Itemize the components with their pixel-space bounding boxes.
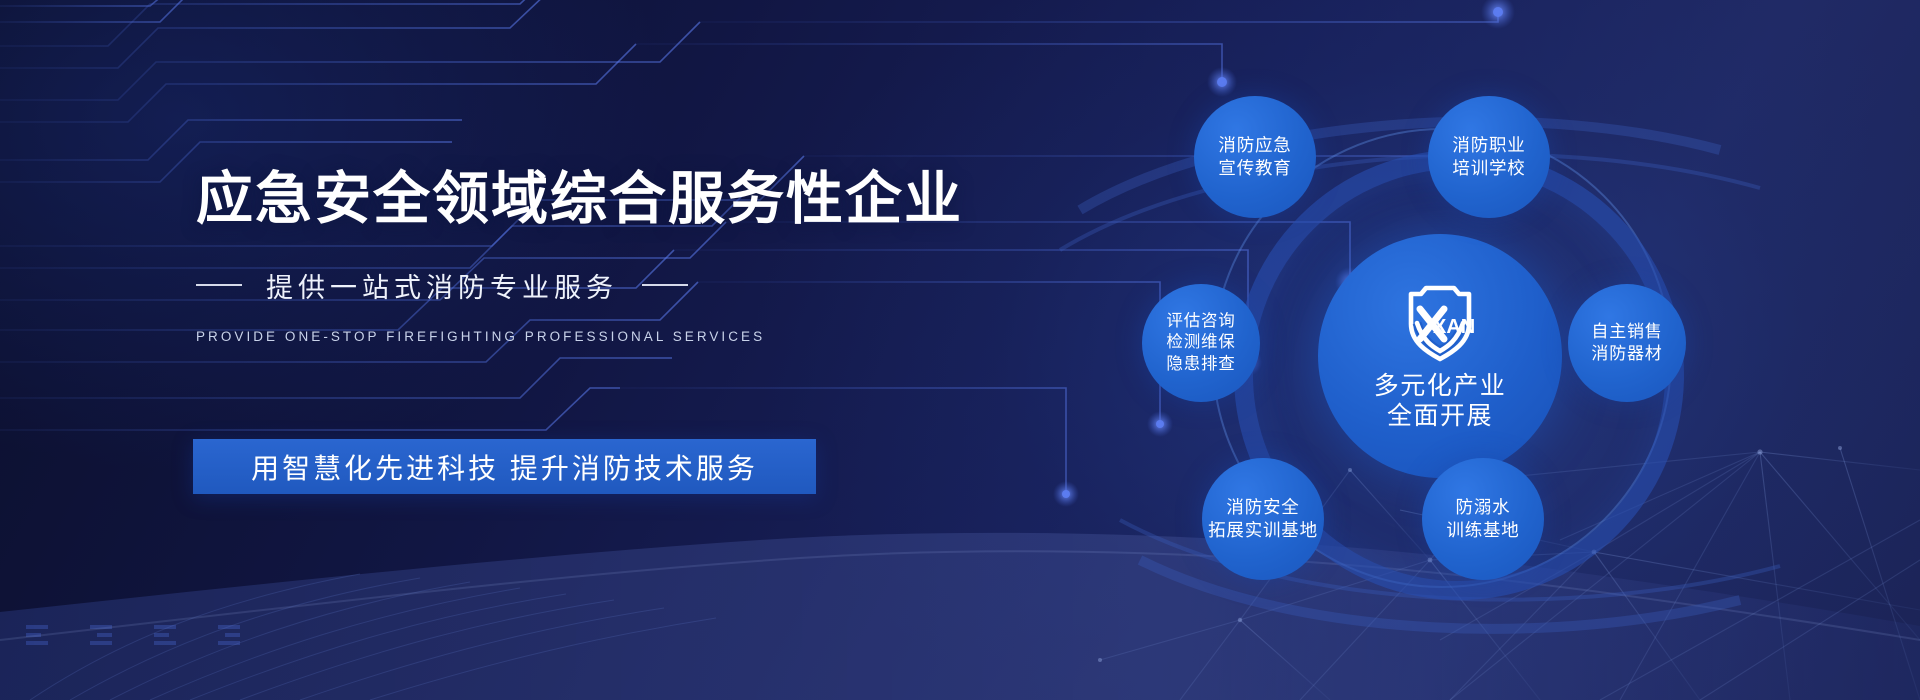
logo-wordmark: XAN bbox=[1433, 316, 1475, 338]
page-subtitle: 提供一站式消防专业服务 bbox=[266, 266, 618, 305]
bubble-label-line2: 消防器材 bbox=[1591, 343, 1662, 365]
dash-right-decoration bbox=[642, 284, 688, 286]
center-label-line2: 全面开展 bbox=[1374, 401, 1507, 432]
services-orbit-diagram: XAN 多元化产业 全面开展 消防应急 宣传教育 消防职业 培训学校 评估咨询 … bbox=[1150, 92, 1730, 612]
bubble-label-line2: 培训学校 bbox=[1452, 157, 1525, 180]
hero-copy-block: 应急安全领域综合服务性企业 提供一站式消防专业服务 PROVIDE ONE-ST… bbox=[196, 168, 956, 344]
bubble-label-line1: 防溺水 bbox=[1456, 496, 1511, 519]
cta-label: 用智慧化先进科技 提升消防技术服务 bbox=[251, 447, 758, 487]
hero-banner: 应急安全领域综合服务性企业 提供一站式消防专业服务 PROVIDE ONE-ST… bbox=[0, 0, 1920, 700]
bubble-label-line2: 训练基地 bbox=[1446, 519, 1519, 542]
bubble-label-line3: 隐患排查 bbox=[1166, 354, 1235, 375]
page-title: 应急安全领域综合服务性企业 bbox=[196, 168, 956, 232]
center-label-line1: 多元化产业 bbox=[1374, 371, 1507, 402]
cta-banner-button[interactable]: 用智慧化先进科技 提升消防技术服务 bbox=[193, 439, 816, 494]
service-bubble-vocational-training-school[interactable]: 消防职业 培训学校 bbox=[1428, 96, 1550, 218]
service-bubble-anti-drowning-base[interactable]: 防溺水 训练基地 bbox=[1422, 458, 1544, 580]
center-node-labels: 多元化产业 全面开展 bbox=[1374, 371, 1507, 432]
bubble-label-line1: 消防职业 bbox=[1452, 134, 1525, 157]
service-bubble-fire-emergency-publicity[interactable]: 消防应急 宣传教育 bbox=[1194, 96, 1316, 218]
english-tagline: PROVIDE ONE-STOP FIREFIGHTING PROFESSION… bbox=[196, 329, 956, 344]
service-bubble-safety-training-base[interactable]: 消防安全 拓展实训基地 bbox=[1202, 458, 1324, 580]
center-node[interactable]: XAN 多元化产业 全面开展 bbox=[1318, 234, 1562, 478]
bubble-label-line2: 检测维保 bbox=[1166, 332, 1235, 353]
service-bubble-assessment-inspection[interactable]: 评估咨询 检测维保 隐患排查 bbox=[1142, 284, 1260, 402]
dash-marks-decoration bbox=[26, 625, 240, 645]
subheadline-row: 提供一站式消防专业服务 bbox=[196, 266, 956, 305]
bubble-label-line1: 消防应急 bbox=[1218, 134, 1291, 157]
bubble-label-line2: 拓展实训基地 bbox=[1208, 519, 1318, 542]
dash-left-decoration bbox=[196, 284, 242, 286]
bubble-label-line2: 宣传教育 bbox=[1218, 157, 1291, 180]
bubble-label-line1: 自主销售 bbox=[1591, 321, 1662, 343]
service-bubble-equipment-sales[interactable]: 自主销售 消防器材 bbox=[1568, 284, 1686, 402]
bubble-label-line1: 评估咨询 bbox=[1166, 311, 1235, 332]
bubble-label-line1: 消防安全 bbox=[1226, 496, 1299, 519]
shield-logo-icon: XAN bbox=[1403, 281, 1477, 363]
